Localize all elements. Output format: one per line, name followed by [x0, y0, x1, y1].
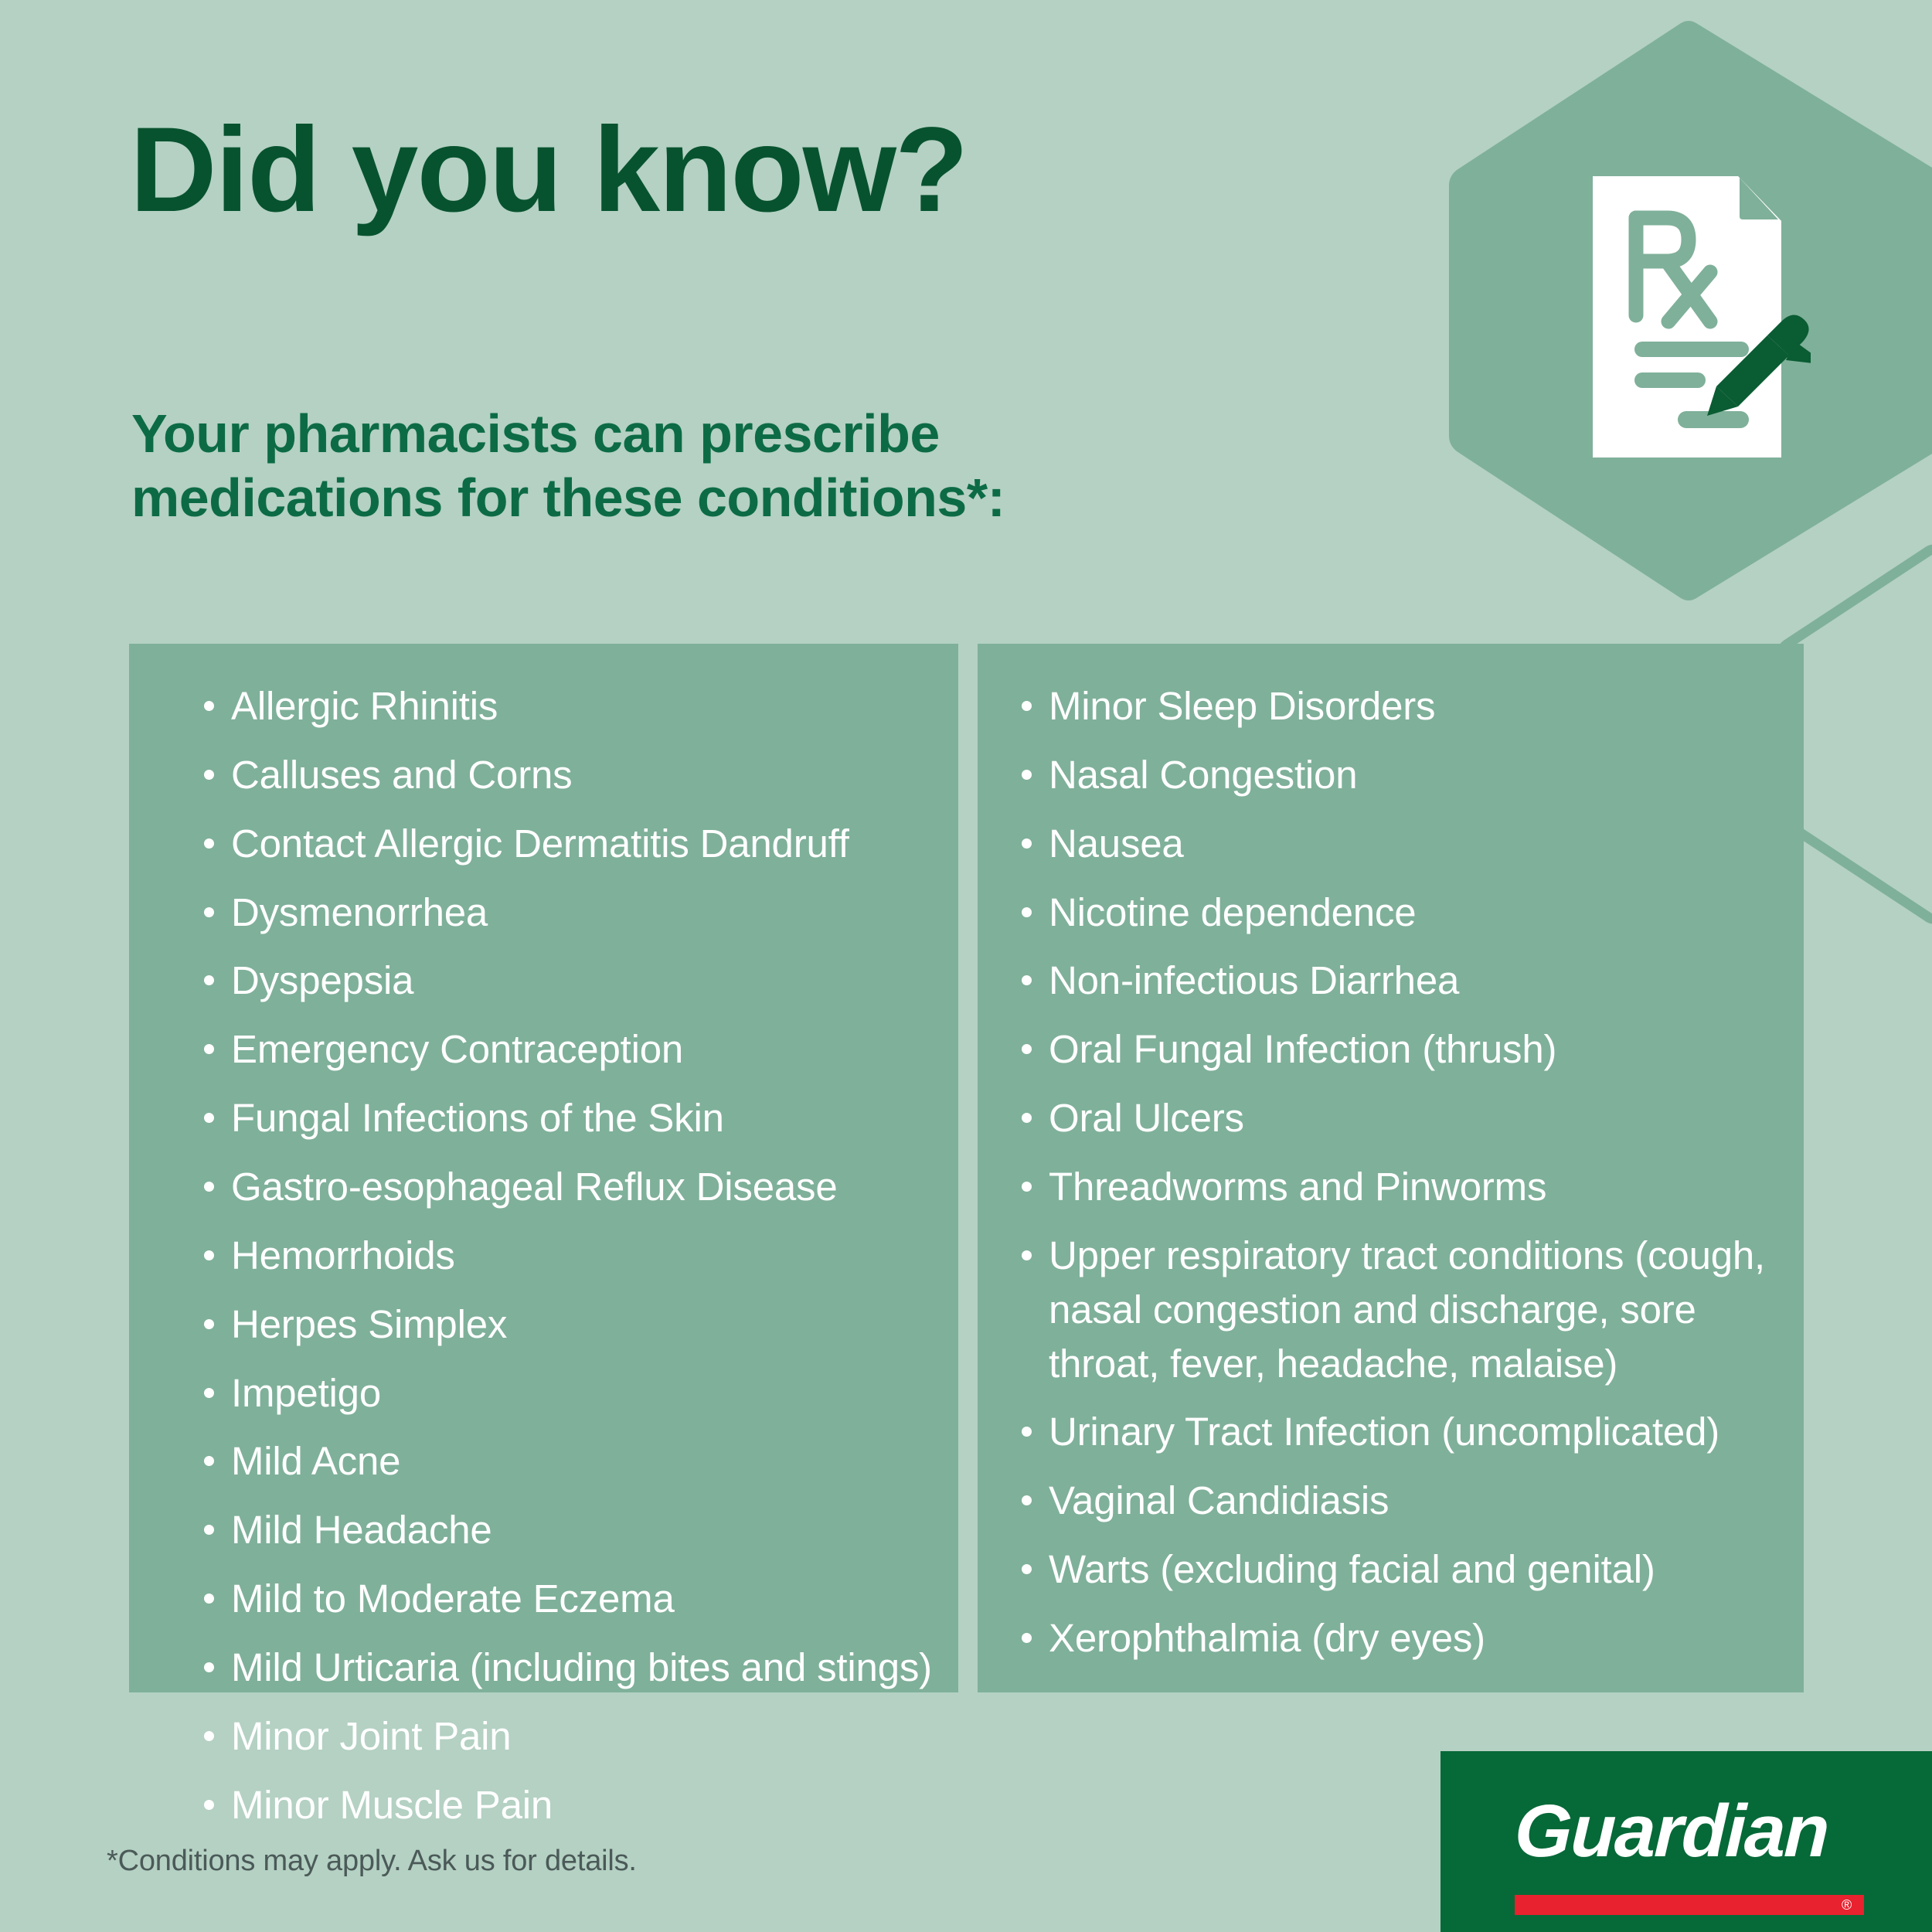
- rx-prescription-icon: [1587, 170, 1811, 464]
- condition-list-item: Urinary Tract Infection (uncomplicated): [1016, 1405, 1781, 1459]
- condition-list-item: Nausea: [1016, 817, 1781, 871]
- page-subtitle-line1: Your pharmacists can prescribe: [131, 403, 940, 464]
- condition-list-item: Vaginal Candidiasis: [1016, 1474, 1781, 1528]
- condition-list-item: Nicotine dependence: [1016, 886, 1781, 940]
- condition-list-item: Allergic Rhinitis: [199, 679, 935, 733]
- condition-list-item: Threadworms and Pinworms: [1016, 1160, 1781, 1214]
- condition-list-item: Fungal Infections of the Skin: [199, 1091, 935, 1145]
- condition-list-item: Dysmenorrhea: [199, 886, 935, 940]
- condition-list-item: Mild to Moderate Eczema: [199, 1572, 935, 1626]
- condition-list-item: Gastro-esophageal Reflux Disease: [199, 1160, 935, 1214]
- footnote-text: *Conditions may apply. Ask us for detail…: [107, 1845, 637, 1878]
- guardian-wordmark: Guardian: [1513, 1794, 1829, 1869]
- condition-list-item: Calluses and Corns: [199, 748, 935, 802]
- registered-trademark-icon: ®: [1842, 1898, 1852, 1912]
- condition-list-item: Dyspepsia: [199, 954, 935, 1008]
- condition-list-item: Nasal Congestion: [1016, 748, 1781, 802]
- condition-list-item: Minor Joint Pain: [199, 1709, 935, 1764]
- condition-list-item: Mild Acne: [199, 1434, 935, 1488]
- conditions-panel-left: Allergic RhinitisCalluses and CornsConta…: [129, 644, 958, 1692]
- condition-list-item: Mild Urticaria (including bites and stin…: [199, 1641, 935, 1695]
- condition-list-item: Oral Fungal Infection (thrush): [1016, 1022, 1781, 1077]
- infographic-canvas: Did you know? Your pharmacists can presc…: [0, 0, 1932, 1932]
- condition-list-item: Xerophthalmia (dry eyes): [1016, 1611, 1781, 1665]
- condition-list-item: Non-infectious Diarrhea: [1016, 954, 1781, 1008]
- condition-list-item: Herpes Simplex: [199, 1298, 935, 1352]
- condition-list-item: Upper respiratory tract conditions (coug…: [1016, 1229, 1781, 1391]
- condition-list-item: Minor Muscle Pain: [199, 1778, 935, 1832]
- page-subtitle: Your pharmacists can prescribe medicatio…: [131, 402, 1291, 529]
- condition-list-item: Emergency Contraception: [199, 1022, 935, 1077]
- conditions-list-right: Minor Sleep DisordersNasal CongestionNau…: [1001, 679, 1781, 1665]
- page-title: Did you know?: [130, 110, 967, 230]
- condition-list-item: Minor Sleep Disorders: [1016, 679, 1781, 733]
- condition-list-item: Warts (excluding facial and genital): [1016, 1543, 1781, 1597]
- conditions-list-left: Allergic RhinitisCalluses and CornsConta…: [152, 679, 935, 1832]
- guardian-red-rule: [1515, 1895, 1864, 1915]
- condition-list-item: Impetigo: [199, 1366, 935, 1420]
- condition-list-item: Contact Allergic Dermatitis Dandruff: [199, 817, 935, 871]
- conditions-panel-right: Minor Sleep DisordersNasal CongestionNau…: [978, 644, 1804, 1692]
- conditions-panels: Allergic RhinitisCalluses and CornsConta…: [129, 644, 1804, 1692]
- condition-list-item: Oral Ulcers: [1016, 1091, 1781, 1145]
- page-subtitle-line2: medications for these conditions*:: [131, 466, 1291, 530]
- guardian-logo: Guardian ®: [1440, 1751, 1932, 1932]
- condition-list-item: Hemorrhoids: [199, 1229, 935, 1283]
- condition-list-item: Mild Headache: [199, 1503, 935, 1557]
